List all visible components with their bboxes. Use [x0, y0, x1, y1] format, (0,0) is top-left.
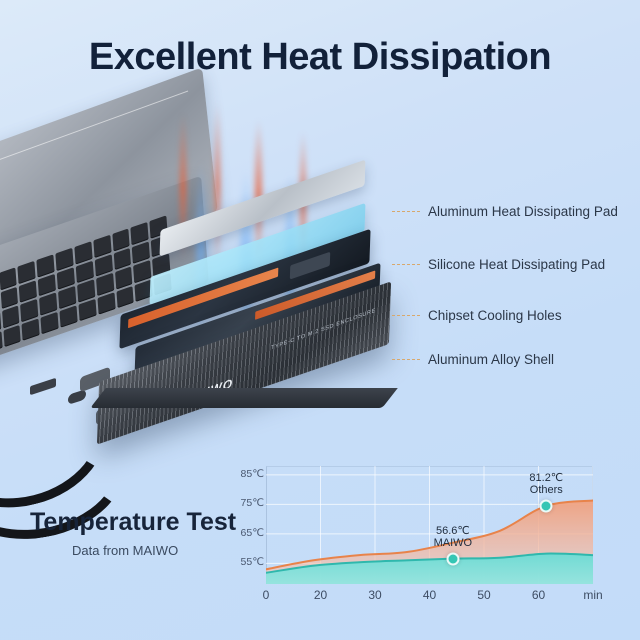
chart-y-tick: 85℃ — [241, 468, 264, 480]
callout-silicone-heat-pad: Silicone Heat Dissipating Pad — [392, 257, 605, 272]
temperature-test-subtitle: Data from MAIWO — [72, 543, 178, 558]
chart-annotation: 56.6℃MAIWO — [434, 525, 473, 550]
callout-aluminum-alloy-shell: Aluminum Alloy Shell — [392, 352, 554, 367]
chart-x-tick: 40 — [423, 588, 436, 602]
chart-y-tick: 55℃ — [241, 556, 264, 568]
temperature-test-title: Temperature Test — [30, 508, 236, 537]
callout-leader-line — [392, 264, 420, 265]
callout-leader-line — [392, 315, 420, 316]
page-title: Excellent Heat Dissipation — [0, 36, 640, 79]
chart-plot-area: 56.6℃MAIWO81.2℃Others — [266, 466, 593, 584]
shell-front-face — [90, 388, 398, 408]
callout-chipset-cooling-holes: Chipset Cooling Holes — [392, 308, 562, 323]
chart-y-tick: 65℃ — [241, 527, 264, 539]
chart-data-point — [446, 552, 459, 565]
chart-x-tick: min — [583, 588, 602, 602]
heat-streak-red-2 — [215, 100, 220, 270]
callout-leader-line — [392, 211, 420, 212]
callout-label: Silicone Heat Dissipating Pad — [428, 257, 605, 272]
chart-x-tick: 0 — [263, 588, 270, 602]
chart-x-tick: 60 — [532, 588, 545, 602]
chart-x-tick: 20 — [314, 588, 327, 602]
callout-aluminum-heat-pad: Aluminum Heat Dissipating Pad — [392, 204, 618, 219]
callout-leader-line — [392, 359, 420, 360]
chart-annotation: 81.2℃Others — [529, 472, 563, 497]
poster-canvas: Excellent Heat Dissipation — [0, 0, 640, 640]
chart-data-point — [540, 499, 553, 512]
temperature-chart: 56.6℃MAIWO81.2℃Others 55℃65℃75℃85℃ 02030… — [232, 462, 632, 602]
callout-label: Aluminum Alloy Shell — [428, 352, 554, 367]
annotation-value: 81.2℃ — [529, 472, 563, 485]
annotation-label: Others — [529, 484, 563, 497]
chart-x-tick: 50 — [477, 588, 490, 602]
chart-x-tick: 30 — [368, 588, 381, 602]
callout-label: Aluminum Heat Dissipating Pad — [428, 204, 618, 219]
annotation-value: 56.6℃ — [434, 525, 473, 538]
chart-y-tick: 75℃ — [241, 497, 264, 509]
callout-label: Chipset Cooling Holes — [428, 308, 562, 323]
product-exploded-illustration: TYPE-C TO M.2 SSD ENCLOSURE MAIWO — [0, 100, 420, 430]
annotation-label: MAIWO — [434, 537, 473, 550]
